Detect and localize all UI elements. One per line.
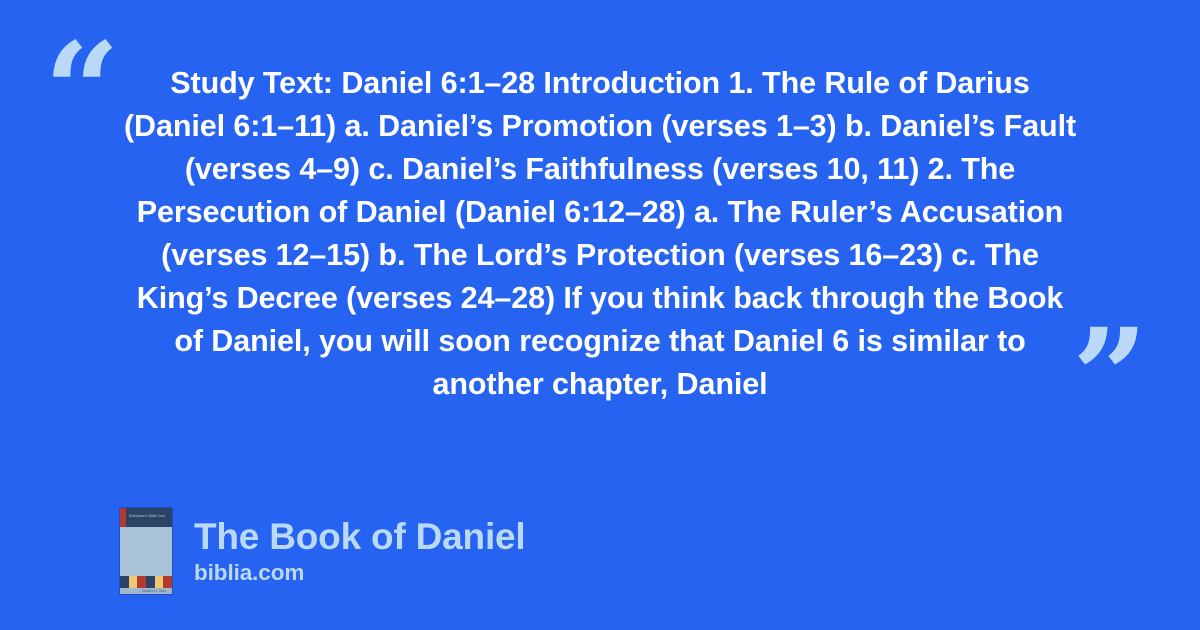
cover-body — [120, 527, 172, 576]
cover-series-label: Everyman's Bible Commentary — [129, 514, 165, 519]
cover-bar-block — [163, 576, 172, 588]
brand-block: The Book of Daniel biblia.com — [194, 516, 525, 587]
cover-bar-block — [155, 576, 164, 588]
book-title: The Book of Daniel — [194, 516, 525, 558]
book-cover-thumbnail: Everyman's Bible Commentary Daniel Charl… — [120, 508, 172, 594]
cover-bar-block — [137, 576, 146, 588]
cover-bar-block — [146, 576, 155, 588]
site-url: biblia.com — [194, 559, 525, 587]
closing-quote-icon: ” — [1072, 312, 1148, 444]
footer: Everyman's Bible Commentary Daniel Charl… — [120, 508, 525, 594]
quote-text: Study Text: Daniel 6:1–28 Introduction 1… — [120, 62, 1080, 406]
quote-block: Study Text: Daniel 6:1–28 Introduction 1… — [120, 62, 1080, 406]
opening-quote-icon: “ — [44, 26, 120, 158]
cover-bar-block — [129, 576, 138, 588]
cover-bar-block — [120, 576, 129, 588]
quote-card: “ Study Text: Daniel 6:1–28 Introduction… — [0, 0, 1200, 630]
cover-author-label: Charles H. Dyer — [142, 588, 166, 594]
cover-color-bar — [120, 576, 172, 588]
cover-spine-strip — [120, 508, 126, 527]
